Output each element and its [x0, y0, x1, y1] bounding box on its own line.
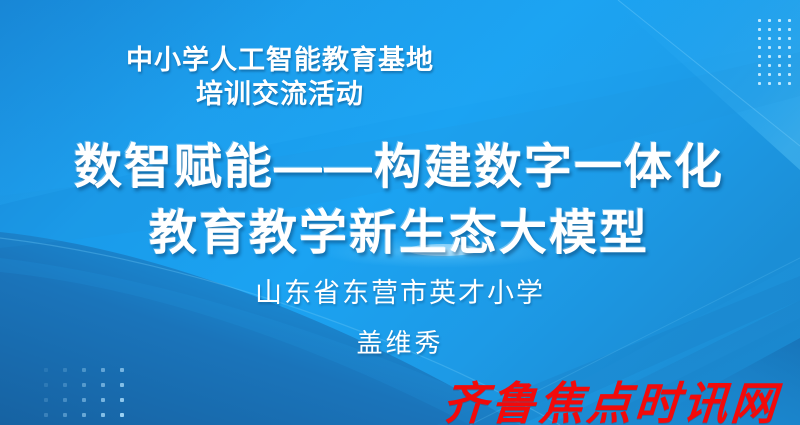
slide-title-line-2: 教育教学新生态大模型 [0, 193, 799, 263]
presenter-name: 盖维秀 [0, 323, 800, 360]
presentation-slide: 中小学人工智能教育基地 培训交流活动 数智赋能——构建数字一体化 教育教学新生态… [0, 0, 800, 425]
organization-name: 山东省东营市英才小学 [0, 271, 800, 310]
event-header-line-2: 培训交流活动 [0, 72, 680, 111]
slide-text-layer: 中小学人工智能教育基地 培训交流活动 数智赋能——构建数字一体化 教育教学新生态… [0, 0, 800, 425]
watermark-text: 齐鲁焦点时讯网 [428, 367, 795, 425]
slide-title-line-1: 数智赋能——构建数字一体化 [0, 127, 799, 197]
